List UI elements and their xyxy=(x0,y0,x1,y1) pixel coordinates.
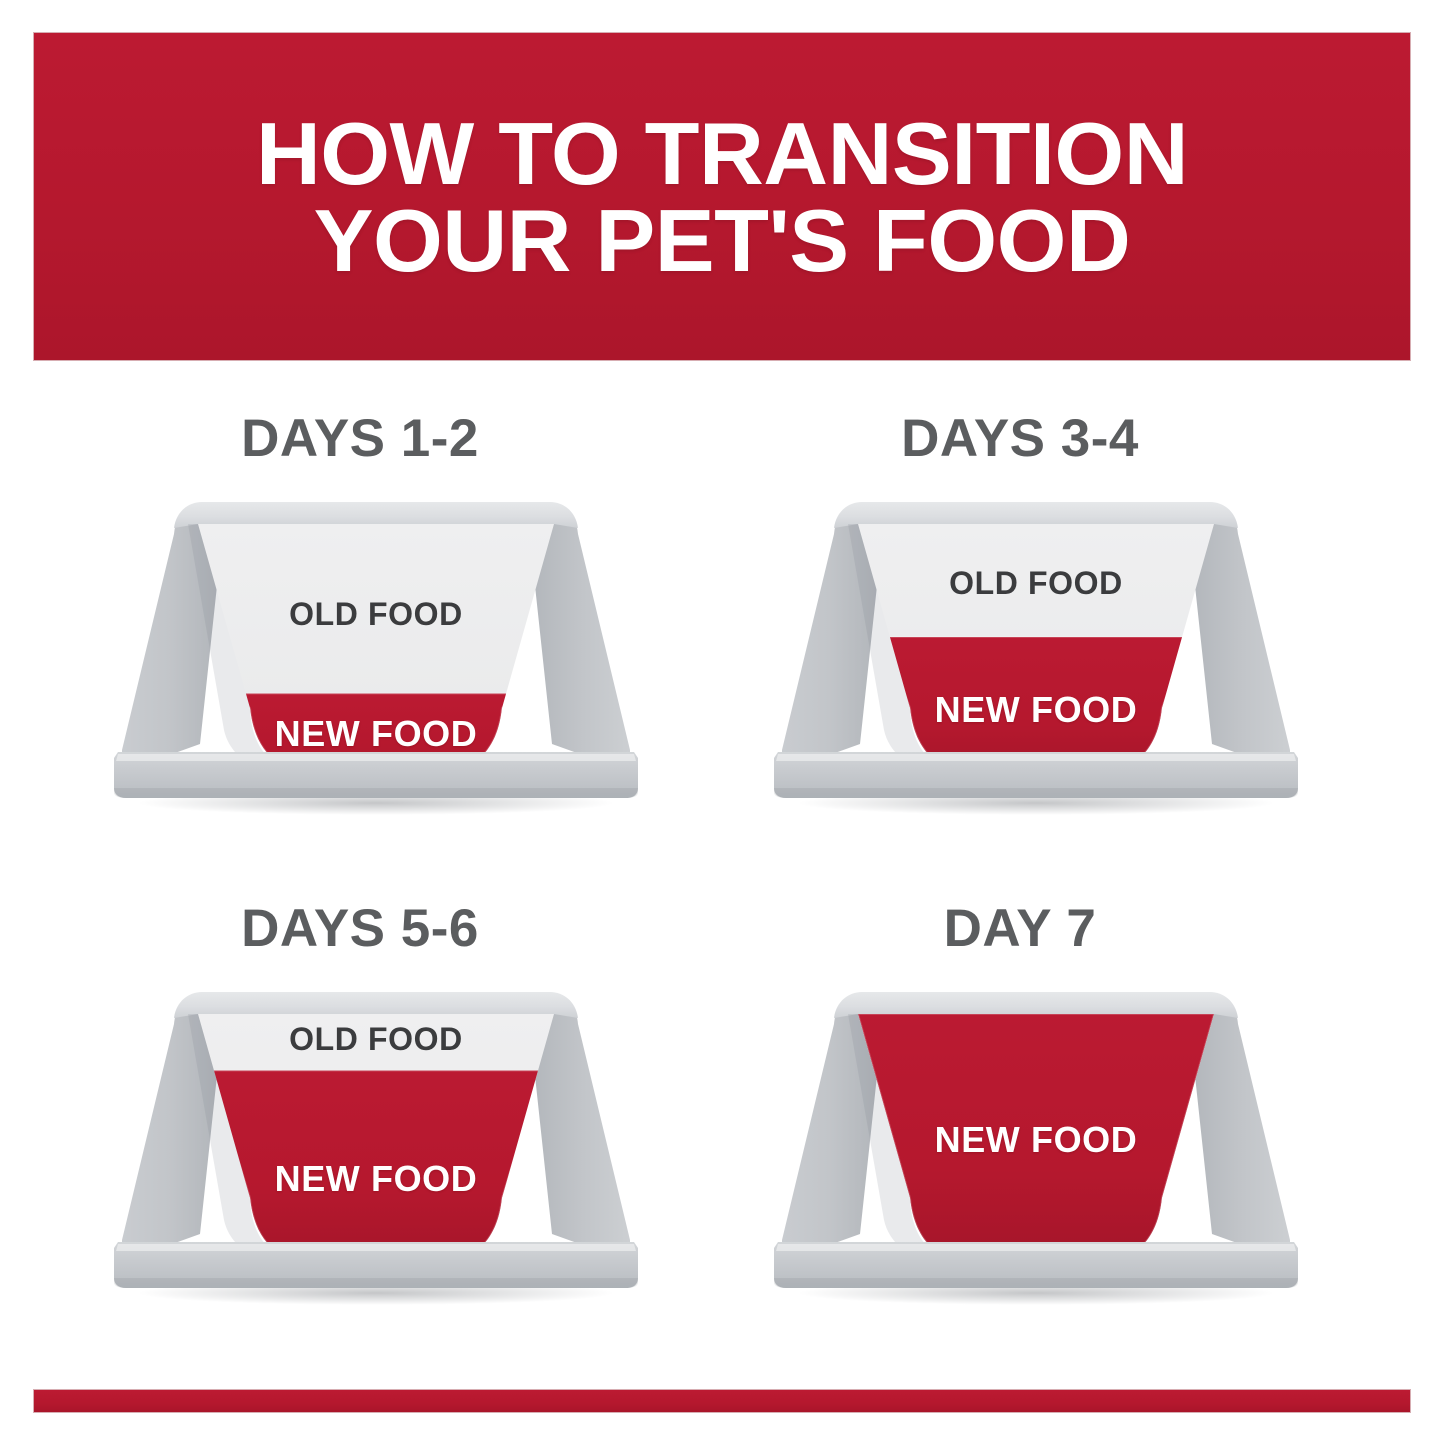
step-label: DAYS 3-4 xyxy=(670,408,1370,469)
food-bowl: OLD FOODNEW FOOD xyxy=(102,972,650,1302)
transition-steps-grid: DAYS 1-2 xyxy=(0,390,1445,1370)
header-banner: HOW TO TRANSITION YOUR PET'S FOOD xyxy=(34,33,1410,360)
transition-step-card: DAYS 1-2 xyxy=(10,390,710,870)
step-label: DAYS 1-2 xyxy=(10,408,710,469)
transition-step-card: DAYS 5-6 xyxy=(10,880,710,1360)
food-bowl: NEW FOOD xyxy=(762,972,1310,1302)
transition-step-card: DAYS 3-4 xyxy=(670,390,1370,870)
step-label: DAY 7 xyxy=(670,898,1370,959)
step-label: DAYS 5-6 xyxy=(10,898,710,959)
food-bowl: OLD FOODNEW FOOD xyxy=(102,482,650,812)
transition-step-card: DAY 7 xyxy=(670,880,1370,1360)
page-title: HOW TO TRANSITION YOUR PET'S FOOD xyxy=(34,109,1410,283)
page-title-line-1: HOW TO TRANSITION xyxy=(61,109,1383,196)
food-bowl: OLD FOODNEW FOOD xyxy=(762,482,1310,812)
infographic-canvas: HOW TO TRANSITION YOUR PET'S FOOD DAYS 1… xyxy=(0,0,1445,1445)
footer-accent-bar xyxy=(34,1390,1410,1412)
page-title-line-2: YOUR PET'S FOOD xyxy=(61,197,1383,284)
